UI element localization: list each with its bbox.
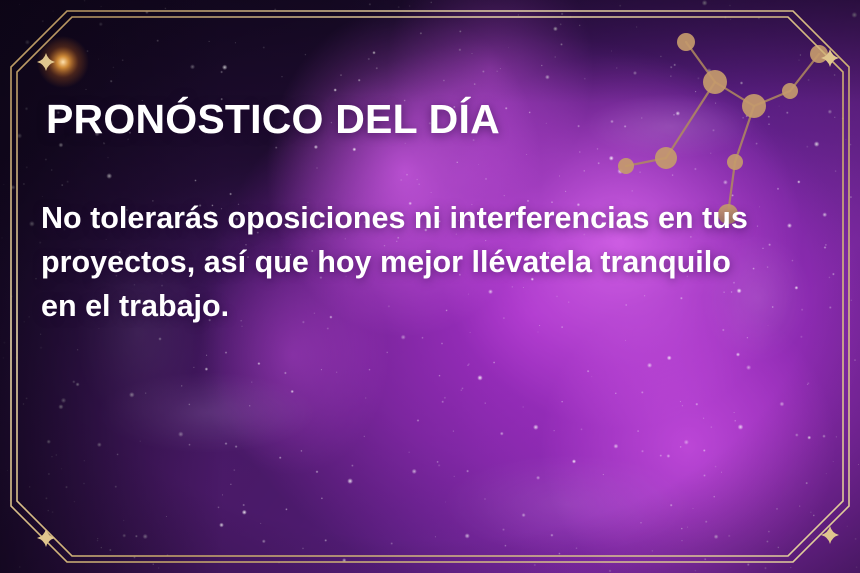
sparkle-bottom-left bbox=[37, 529, 55, 547]
horoscope-forecast-card: PRONÓSTICO DEL DÍA No tolerarás oposicio… bbox=[0, 0, 860, 573]
forecast-line: proyectos, así que hoy mejor llévatela t… bbox=[41, 240, 831, 284]
sparkle-bottom-right bbox=[821, 526, 839, 544]
sparkle-top-left bbox=[37, 53, 55, 71]
forecast-line: No tolerarás oposiciones ni interferenci… bbox=[41, 196, 831, 240]
forecast-body-text: No tolerarás oposiciones ni interferenci… bbox=[41, 196, 831, 328]
page-title: PRONÓSTICO DEL DÍA bbox=[46, 96, 500, 143]
forecast-line: en el trabajo. bbox=[41, 284, 831, 328]
